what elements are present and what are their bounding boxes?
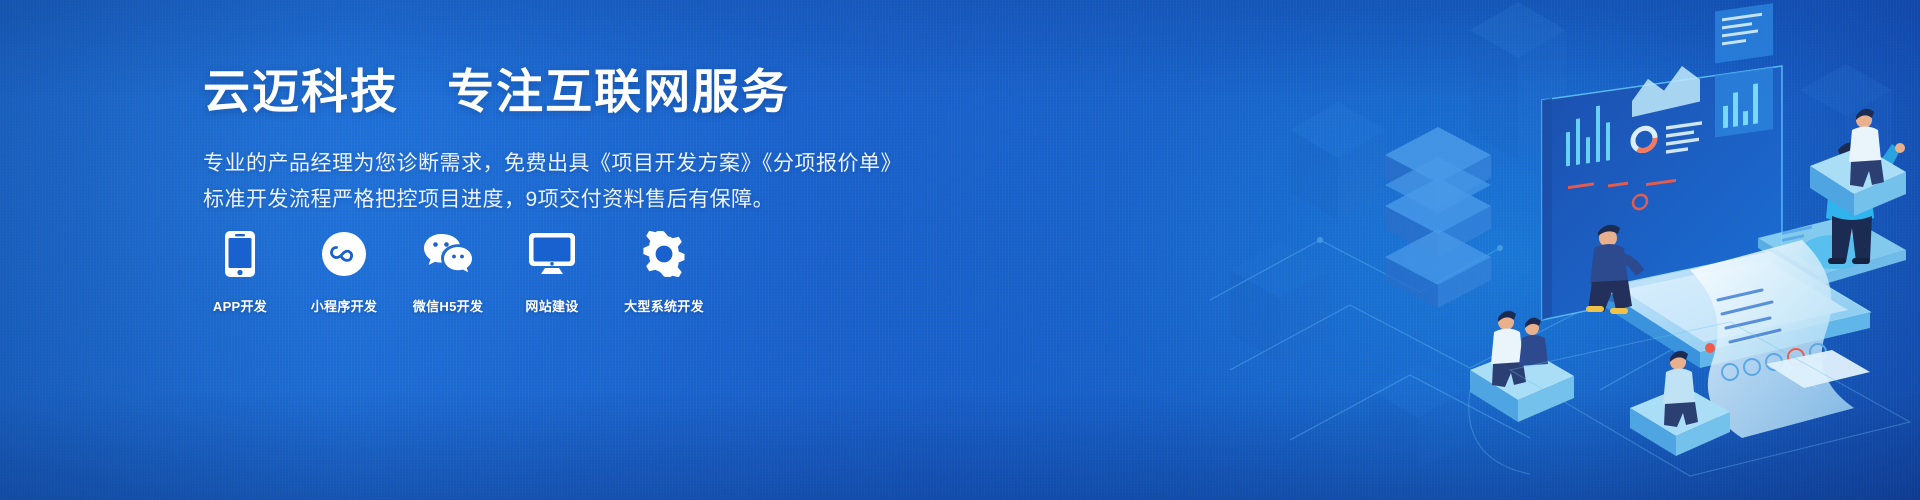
hero-banner: 云迈科技 专注互联网服务 专业的产品经理为您诊断需求，免费出具《项目开发方案》《…	[0, 0, 1920, 500]
service-list: APP开发 小程序开发 微信	[203, 228, 709, 315]
wechat-icon	[422, 228, 474, 280]
banner-subtitle: 专业的产品经理为您诊断需求，免费出具《项目开发方案》《分项报价单》 标准开发流程…	[203, 146, 903, 218]
page-title: 云迈科技 专注互联网服务	[203, 66, 903, 118]
headline-tagline: 专注互联网服务	[447, 65, 790, 118]
hero-illustration	[1170, 0, 1920, 500]
headline-brand: 云迈科技	[203, 65, 399, 118]
monitor-icon	[526, 228, 578, 280]
mobile-phone-icon	[214, 228, 266, 280]
subtitle-line-1: 专业的产品经理为您诊断需求，免费出具《项目开发方案》《分项报价单》	[203, 146, 903, 182]
gear-icon	[638, 228, 690, 280]
service-label: 网站建设	[525, 296, 578, 315]
service-item-app[interactable]: APP开发	[203, 228, 277, 315]
service-item-website[interactable]: 网站建设	[515, 228, 589, 315]
subtitle-line-2: 标准开发流程严格把控项目进度，9项交付资料售后有保障。	[203, 182, 903, 218]
service-label: APP开发	[213, 296, 267, 315]
mini-program-icon	[318, 228, 370, 280]
service-label: 微信H5开发	[413, 296, 483, 315]
service-item-miniprogram[interactable]: 小程序开发	[307, 228, 381, 315]
service-item-large-system[interactable]: 大型系统开发	[619, 228, 709, 315]
service-label: 大型系统开发	[624, 296, 704, 315]
banner-copy: 云迈科技 专注互联网服务 专业的产品经理为您诊断需求，免费出具《项目开发方案》《…	[203, 66, 903, 218]
pedestal-left	[1470, 311, 1574, 422]
service-label: 小程序开发	[311, 296, 378, 315]
server-stack	[1385, 127, 1491, 308]
service-item-wechat-h5[interactable]: 微信H5开发	[411, 228, 485, 315]
